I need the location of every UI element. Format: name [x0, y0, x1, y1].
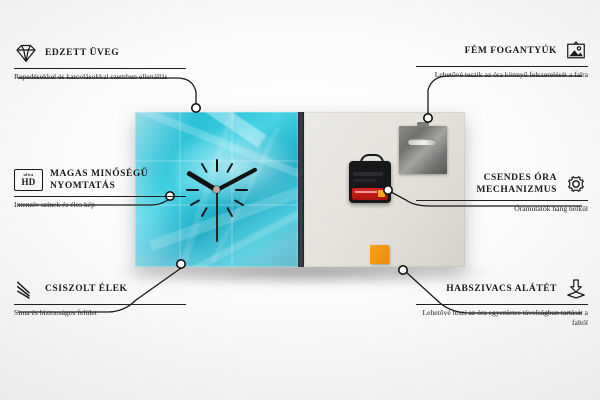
callout-description: Intenzív színek és éles kép	[14, 200, 186, 210]
callout-polished-edges[interactable]: CSISZOLT ÉLEK Sima és biztonságos felüle…	[14, 278, 186, 318]
callout-head: FÉM FOGANTYÚK	[416, 40, 588, 62]
callout-silent-mechanism[interactable]: CSENDES ÓRA MECHANIZMUS Óramutatók hang …	[416, 172, 588, 214]
callout-description: Lehetővé teszi az óra egyenletes távolsá…	[416, 308, 588, 328]
callout-head: EDZETT ÜVEG	[14, 42, 186, 64]
callout-title: CSISZOLT ÉLEK	[45, 283, 127, 295]
callout-head: HABSZIVACS ALÁTÉT	[416, 278, 588, 300]
callout-rule	[416, 304, 588, 305]
diamond-icon	[14, 42, 38, 64]
ultra-hd-icon-main: HD	[22, 178, 36, 187]
foam-pad	[370, 245, 389, 264]
callout-tempered-glass[interactable]: EDZETT ÜVEG Repedésekkel és karcolásokka…	[14, 42, 186, 82]
callout-title: FÉM FOGANTYÚK	[465, 45, 557, 57]
connector-dot-tempered-glass	[192, 104, 200, 112]
callout-title: CSENDES ÓRA MECHANIZMUS	[416, 172, 557, 196]
picture-hanger-icon	[564, 40, 588, 62]
callout-title: MAGAS MINŐSÉGŰ NYOMTATÁS	[50, 168, 186, 192]
mechanism-detail	[353, 179, 377, 182]
callout-rule	[416, 200, 588, 201]
callout-metal-handles[interactable]: FÉM FOGANTYÚK Lehetővé teszik az óra kön…	[416, 40, 588, 80]
callout-rule	[14, 68, 186, 69]
clock-second-hand	[216, 190, 218, 242]
callout-head: CSISZOLT ÉLEK	[14, 278, 186, 300]
callout-description: Lehetővé teszik az óra könnyű felszerelé…	[416, 70, 588, 80]
gear-icon	[564, 173, 588, 195]
callout-foam-spacer[interactable]: HABSZIVACS ALÁTÉT Lehetővé teszi az óra …	[416, 278, 588, 328]
mechanism-detail	[353, 172, 383, 176]
infographic-canvas: EDZETT ÜVEG Repedésekkel és karcolásokka…	[0, 0, 600, 400]
battery-label	[352, 188, 388, 200]
callout-description: Óramutatók hang nélkül	[416, 204, 588, 214]
ultra-hd-icon: ultra HD	[14, 169, 43, 191]
connector-line-handles	[428, 76, 582, 114]
polished-edges-icon	[14, 278, 38, 300]
clock-center-cap	[213, 186, 220, 193]
metal-hanger	[399, 126, 447, 174]
callout-head: CSENDES ÓRA MECHANIZMUS	[416, 172, 588, 196]
battery-plus-terminal	[378, 190, 385, 197]
battery-text	[355, 191, 377, 193]
callout-rule	[14, 196, 186, 197]
callout-rule	[416, 66, 588, 67]
hanger-tab	[417, 122, 429, 127]
mechanism-loop	[360, 154, 384, 166]
callout-description: Sima és biztonságos felület	[14, 308, 186, 318]
callout-description: Repedésekkel és karcolásokkal szemben el…	[14, 72, 186, 82]
callout-title: EDZETT ÜVEG	[45, 47, 119, 59]
hanger-slot	[408, 139, 436, 145]
callout-title: HABSZIVACS ALÁTÉT	[446, 283, 557, 295]
callout-head: ultra HD MAGAS MINŐSÉGŰ NYOMTATÁS	[14, 168, 186, 192]
clock-mechanism	[349, 161, 391, 203]
callout-high-quality-print[interactable]: ultra HD MAGAS MINŐSÉGŰ NYOMTATÁS Intenz…	[14, 168, 186, 210]
callout-rule	[14, 304, 186, 305]
foam-pad-icon	[564, 278, 588, 300]
